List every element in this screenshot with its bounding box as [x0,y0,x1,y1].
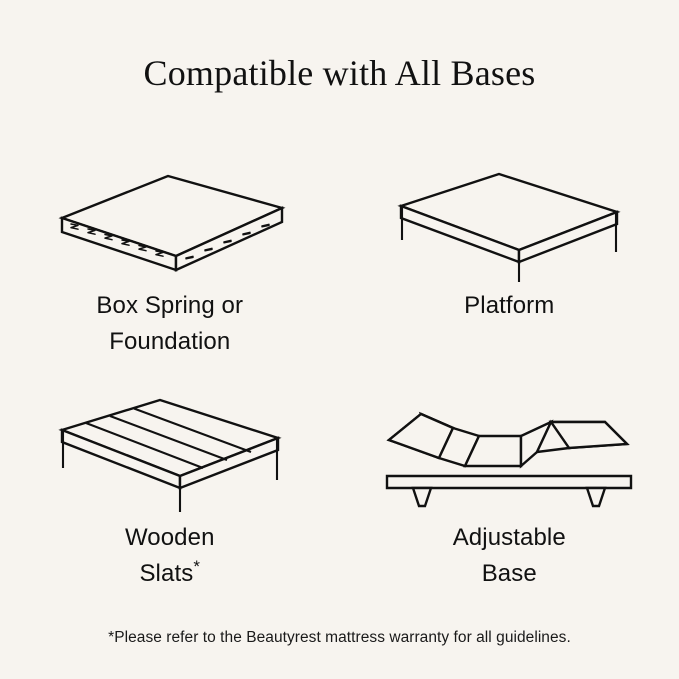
base-label-box-spring: Box Spring or Foundation [20,288,320,361]
box-spring-foundation-icon [40,160,300,282]
adjustable-base-icon [379,392,639,514]
base-label-line2: Base [359,556,659,592]
base-label-line2: Slats [139,560,193,587]
adjustable-leg-right [587,488,605,506]
base-card-platform: Platform [340,160,679,392]
base-card-wooden-slats: Wooden Slats* [0,392,340,624]
compatible-bases-infographic: Compatible with All Bases [0,0,679,679]
base-card-adjustable: Adjustable Base [340,392,679,624]
base-label-line1: Platform [359,288,659,324]
platform-base-icon [379,160,639,282]
footnote-marker: * [193,557,200,576]
base-card-box-spring: Box Spring or Foundation [0,160,340,392]
warranty-footnote: *Please refer to the Beautyrest mattress… [0,629,679,647]
base-label-adjustable: Adjustable Base [359,520,659,593]
base-label-line1: Wooden [20,520,320,556]
page-title: Compatible with All Bases [0,52,679,95]
base-label-line2-wrap: Slats* [20,556,320,592]
base-label-line1: Box Spring or [20,288,320,324]
adjustable-platform-slab [387,476,631,488]
wooden-slats-icon [40,392,300,514]
base-label-wooden-slats: Wooden Slats* [20,520,320,593]
base-label-platform: Platform [359,288,659,324]
adjustable-leg-left [413,488,431,506]
bases-grid: Box Spring or Foundation P [0,160,679,624]
base-label-line1: Adjustable [359,520,659,556]
base-label-line2: Foundation [20,324,320,360]
